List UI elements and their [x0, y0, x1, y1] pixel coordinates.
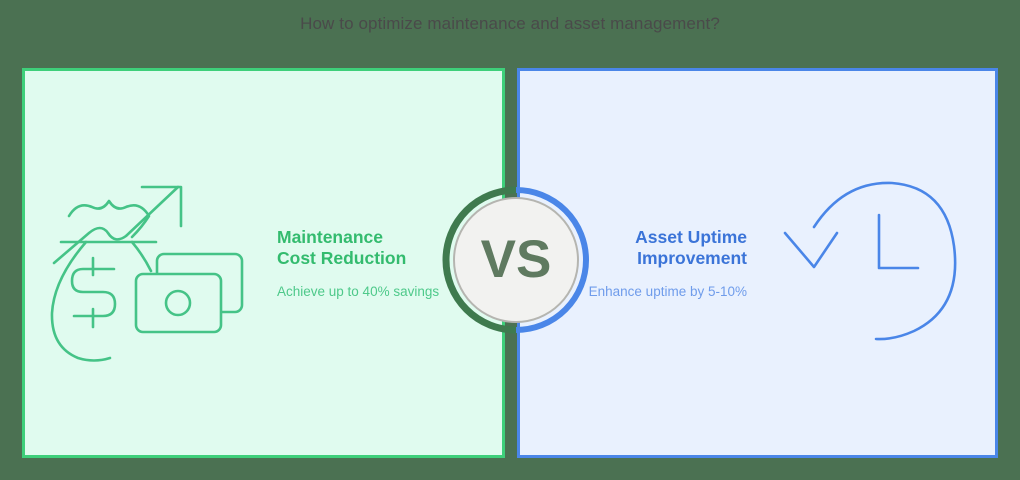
- growth-arrow-icon: [54, 187, 181, 263]
- page-title: How to optimize maintenance and asset ma…: [0, 13, 1020, 35]
- panel-left-content: Maintenance Cost Reduction Achieve up to…: [25, 71, 502, 455]
- comparison-panel-left: Maintenance Cost Reduction Achieve up to…: [22, 68, 505, 458]
- vs-badge: VS: [442, 186, 590, 334]
- panel-left-heading-line2: Cost Reduction: [277, 248, 406, 268]
- panel-right-heading-line1: Asset Uptime: [635, 227, 747, 247]
- vs-label: VS: [442, 186, 590, 334]
- maintenance-cost-illustration: [48, 161, 258, 366]
- panel-left-icon-group: [39, 161, 267, 366]
- panel-left-heading-line1: Maintenance: [277, 227, 383, 247]
- panel-right-heading-line2: Improvement: [637, 248, 747, 268]
- panel-right-content: Asset Uptime Improvement Enhance uptime …: [520, 71, 995, 455]
- banknotes-icon: [136, 254, 242, 332]
- clock-arrow-icon: [774, 171, 969, 356]
- panel-right-icon-group: [757, 171, 985, 356]
